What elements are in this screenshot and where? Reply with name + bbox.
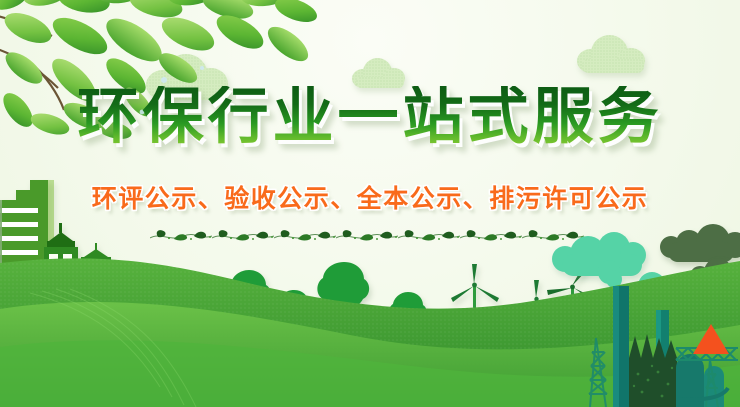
eco-industry-banner: 环保行业一站式服务 环评公示、验收公示、全本公示、排污许可公示	[0, 0, 740, 407]
leafy-vine-divider	[150, 226, 590, 246]
cloud-right	[577, 35, 649, 73]
banner-subtitle: 环评公示、验收公示、全本公示、排污许可公示	[0, 186, 740, 211]
factory-illustration	[556, 228, 740, 407]
banner-title: 环保行业一站式服务	[0, 86, 740, 147]
